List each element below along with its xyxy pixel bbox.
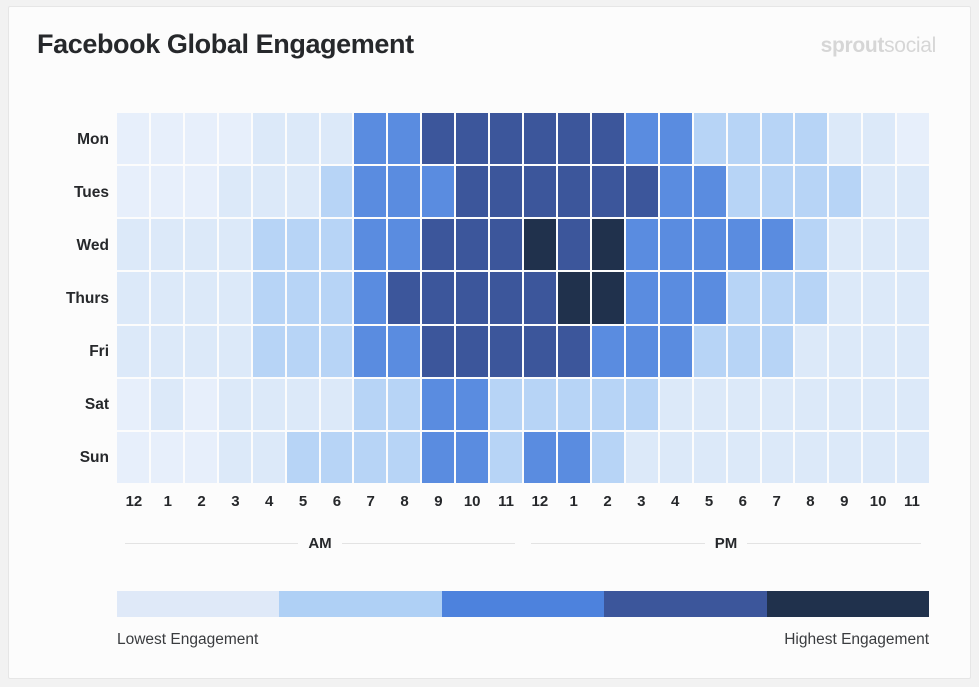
pm-label: PM [705,535,748,552]
hour-label: 8 [794,493,828,515]
heatmap-cell[interactable] [185,432,219,485]
heatmap-cell[interactable] [897,432,929,485]
day-label-sat: Sat [29,397,109,413]
heatmap-cell[interactable] [321,432,355,485]
heatmap-cell[interactable] [151,166,185,219]
heatmap-cell[interactable] [762,326,796,379]
hour-label: 10 [861,493,895,515]
heatmap-cell[interactable] [253,326,287,379]
heatmap-cell[interactable] [795,326,829,379]
hour-label: 11 [895,493,929,515]
heatmap-cell[interactable] [117,113,151,166]
legend-segment [767,591,929,617]
heatmap-cell[interactable] [219,272,253,325]
heatmap-cell[interactable] [490,272,524,325]
heatmap-cell[interactable] [185,219,219,272]
heatmap-cell[interactable] [592,432,626,485]
ampm-axis: AM PM [117,531,929,555]
day-label-wed: Wed [29,238,109,254]
heatmap-cell[interactable] [626,272,660,325]
heatmap-cell[interactable] [863,326,897,379]
day-label-tues: Tues [29,185,109,201]
logo-text-social: social [884,34,936,57]
heatmap-cell[interactable] [524,379,558,432]
heatmap-cell[interactable] [287,432,321,485]
heatmap-cell[interactable] [728,326,762,379]
heatmap-cell[interactable] [762,432,796,485]
heatmap-cell[interactable] [388,272,422,325]
heatmap-cell[interactable] [660,272,694,325]
heatmap-cell[interactable] [422,379,456,432]
heatmap-row [117,379,929,432]
heatmap-cell[interactable] [253,379,287,432]
heatmap-cell[interactable] [558,432,592,485]
heatmap-cell[interactable] [728,113,762,166]
legend-segment [117,591,279,617]
heatmap-grid [117,113,929,485]
heatmap-cell[interactable] [490,219,524,272]
heatmap-cell[interactable] [762,219,796,272]
heatmap-cell[interactable] [456,326,490,379]
heatmap-cell[interactable] [490,432,524,485]
day-label-fri: Fri [29,344,109,360]
heatmap-cell[interactable] [863,432,897,485]
pm-rule-left [531,543,705,544]
heatmap-cell[interactable] [660,379,694,432]
heatmap-cell[interactable] [388,113,422,166]
legend-lowest-label: Lowest Engagement [117,631,258,649]
heatmap-cell[interactable] [185,113,219,166]
heatmap-cell[interactable] [117,272,151,325]
heatmap-cell[interactable] [863,379,897,432]
heatmap-cell[interactable] [422,432,456,485]
hour-label: 9 [827,493,861,515]
heatmap-cell[interactable] [151,379,185,432]
day-label-mon: Mon [29,132,109,148]
heatmap-row [117,113,929,166]
hour-label: 12 [523,493,557,515]
heatmap-cell[interactable] [524,272,558,325]
hour-label: 7 [354,493,388,515]
heatmap-cell[interactable] [456,113,490,166]
heatmap-cell[interactable] [795,166,829,219]
heatmap-cell[interactable] [253,432,287,485]
logo-text-sprout: sprout [821,34,885,57]
heatmap-cell[interactable] [592,379,626,432]
heatmap-cell[interactable] [151,219,185,272]
heatmap-cell[interactable] [117,219,151,272]
heatmap-cell[interactable] [354,113,388,166]
hour-label: 3 [218,493,252,515]
heatmap-cell[interactable] [287,113,321,166]
hour-label: 4 [252,493,286,515]
heatmap-cell[interactable] [592,113,626,166]
hour-label: 1 [151,493,185,515]
page-title: Facebook Global Engagement [37,29,414,60]
heatmap-cell[interactable] [253,219,287,272]
heatmap-cell[interactable] [762,166,796,219]
heatmap-cell[interactable] [829,432,863,485]
heatmap-row [117,326,929,379]
heatmap-cell[interactable] [863,166,897,219]
heatmap-cell[interactable] [456,272,490,325]
heatmap-cell[interactable] [863,272,897,325]
heatmap-cell[interactable] [219,326,253,379]
legend-segment [279,591,441,617]
heatmap-cell[interactable] [151,326,185,379]
heatmap-cell[interactable] [626,379,660,432]
heatmap-cell[interactable] [253,272,287,325]
hour-label: 11 [489,493,523,515]
hour-label: 9 [421,493,455,515]
heatmap-cell[interactable] [422,326,456,379]
heatmap-cell[interactable] [626,113,660,166]
heatmap-cell[interactable] [321,113,355,166]
heatmap-cell[interactable] [660,432,694,485]
hour-label: 12 [117,493,151,515]
heatmap-cell[interactable] [897,113,929,166]
hour-label: 3 [624,493,658,515]
legend-segment [442,591,604,617]
heatmap-cell[interactable] [185,326,219,379]
heatmap-cell[interactable] [253,166,287,219]
heatmap-cell[interactable] [558,326,592,379]
heatmap-cell[interactable] [287,219,321,272]
heatmap-cell[interactable] [660,326,694,379]
heatmap-cell[interactable] [558,272,592,325]
heatmap-cell[interactable] [897,379,929,432]
heatmap-cell[interactable] [219,113,253,166]
heatmap-cell[interactable] [728,432,762,485]
heatmap-cell[interactable] [592,166,626,219]
heatmap-cell[interactable] [694,432,728,485]
heatmap-cell[interactable] [151,432,185,485]
heatmap-cell[interactable] [388,379,422,432]
heatmap-cell[interactable] [321,166,355,219]
heatmap-cell[interactable] [388,219,422,272]
day-label-sun: Sun [29,450,109,466]
heatmap-cell[interactable] [354,432,388,485]
heatmap-cell[interactable] [558,113,592,166]
hour-label: 6 [726,493,760,515]
hour-label: 6 [320,493,354,515]
day-label-thurs: Thurs [29,291,109,307]
heatmap-cell[interactable] [354,219,388,272]
heatmap-cell[interactable] [829,113,863,166]
heatmap-cell[interactable] [762,272,796,325]
heatmap-cell[interactable] [354,272,388,325]
heatmap-cell[interactable] [829,166,863,219]
heatmap-cell[interactable] [117,432,151,485]
hour-label: 1 [557,493,591,515]
heatmap-cell[interactable] [185,166,219,219]
hour-axis: 121234567891011121234567891011 [117,493,929,515]
legend-segment [604,591,766,617]
heatmap-cell[interactable] [219,219,253,272]
heatmap-cell[interactable] [524,432,558,485]
heatmap-cell[interactable] [728,166,762,219]
heatmap-cell[interactable] [524,219,558,272]
heatmap-cell[interactable] [456,166,490,219]
heatmap-cell[interactable] [321,272,355,325]
day-axis: MonTuesWedThursFriSatSun [29,113,109,485]
sprout-social-logo: sproutsocial [821,34,936,58]
heatmap-cell[interactable] [524,326,558,379]
heatmap-cell[interactable] [354,379,388,432]
heatmap-cell[interactable] [558,219,592,272]
heatmap-cell[interactable] [626,326,660,379]
heatmap-cell[interactable] [863,113,897,166]
heatmap-cell[interactable] [388,166,422,219]
chart-card: Facebook Global Engagement sproutsocial … [8,6,971,679]
hour-label: 5 [286,493,320,515]
heatmap-cell[interactable] [151,272,185,325]
hour-label: 7 [760,493,794,515]
heatmap-row [117,272,929,325]
heatmap-cell[interactable] [694,326,728,379]
screenshot-root: Facebook Global Engagement sproutsocial … [0,0,979,687]
heatmap-cell[interactable] [287,272,321,325]
pm-group: PM [523,531,929,555]
heatmap-cell[interactable] [694,272,728,325]
legend-gradient-bar [117,591,929,617]
heatmap-cell[interactable] [660,113,694,166]
legend-captions: Lowest Engagement Highest Engagement [117,631,929,649]
heatmap-cell[interactable] [728,219,762,272]
heatmap-row [117,219,929,272]
heatmap-cell[interactable] [829,379,863,432]
heatmap-cell[interactable] [490,113,524,166]
heatmap-cell[interactable] [388,432,422,485]
heatmap-cell[interactable] [829,272,863,325]
heatmap-cell[interactable] [660,219,694,272]
heatmap-cell[interactable] [287,326,321,379]
heatmap-cell[interactable] [422,166,456,219]
heatmap-cell[interactable] [592,326,626,379]
heatmap-cell[interactable] [321,379,355,432]
heatmap-cell[interactable] [558,166,592,219]
heatmap-cell[interactable] [795,113,829,166]
heatmap-cell[interactable] [422,219,456,272]
heatmap-cell[interactable] [897,326,929,379]
chart-header: Facebook Global Engagement sproutsocial [9,7,970,81]
heatmap-cell[interactable] [524,113,558,166]
heatmap-cell[interactable] [863,219,897,272]
heatmap-cell[interactable] [829,326,863,379]
heatmap-cell[interactable] [321,326,355,379]
heatmap-cell[interactable] [762,113,796,166]
heatmap-cell[interactable] [219,379,253,432]
am-rule-right [342,543,515,544]
heatmap-cell[interactable] [626,432,660,485]
hour-label: 4 [658,493,692,515]
hour-label: 10 [455,493,489,515]
legend-highest-label: Highest Engagement [784,631,929,649]
heatmap-cell[interactable] [897,219,929,272]
heatmap-cell[interactable] [287,379,321,432]
am-group: AM [117,531,523,555]
heatmap-cell[interactable] [897,272,929,325]
heatmap-cell[interactable] [321,219,355,272]
heatmap-cell[interactable] [524,166,558,219]
heatmap-cell[interactable] [388,326,422,379]
heatmap-cell[interactable] [219,166,253,219]
hour-label: 2 [185,493,219,515]
heatmap-cell[interactable] [422,113,456,166]
heatmap-cell[interactable] [762,379,796,432]
heatmap-row [117,432,929,485]
heatmap-cell[interactable] [422,272,456,325]
heatmap-cell[interactable] [558,379,592,432]
heatmap-cell[interactable] [897,166,929,219]
heatmap-cell[interactable] [795,379,829,432]
heatmap-cell[interactable] [694,113,728,166]
heatmap-cell[interactable] [219,432,253,485]
heatmap-cell[interactable] [117,166,151,219]
heatmap-cell[interactable] [354,326,388,379]
heatmap-cell[interactable] [694,379,728,432]
heatmap-cell[interactable] [728,272,762,325]
heatmap-cell[interactable] [456,432,490,485]
heatmap-cell[interactable] [117,326,151,379]
heatmap-cell[interactable] [728,379,762,432]
heatmap-cell[interactable] [626,219,660,272]
heatmap-cell[interactable] [795,272,829,325]
heatmap-cell[interactable] [694,219,728,272]
heatmap-cell[interactable] [660,166,694,219]
heatmap-cell[interactable] [592,272,626,325]
heatmap-cell[interactable] [253,113,287,166]
heatmap-cell[interactable] [490,379,524,432]
heatmap-cell[interactable] [287,166,321,219]
heatmap-cell[interactable] [626,166,660,219]
heatmap-cell[interactable] [694,166,728,219]
heatmap-cell[interactable] [354,166,388,219]
am-rule-left [125,543,298,544]
heatmap-cell[interactable] [151,113,185,166]
heatmap-cell[interactable] [456,219,490,272]
hour-label: 5 [692,493,726,515]
heatmap-row [117,166,929,219]
heatmap-cell[interactable] [795,432,829,485]
heatmap-cell[interactable] [490,326,524,379]
heatmap-cell[interactable] [456,379,490,432]
heatmap-cell[interactable] [185,272,219,325]
heatmap-cell[interactable] [829,219,863,272]
am-label: AM [298,535,341,552]
heatmap-cell[interactable] [592,219,626,272]
heatmap-cell[interactable] [795,219,829,272]
heatmap-cell[interactable] [117,379,151,432]
pm-rule-right [747,543,921,544]
heatmap-cell[interactable] [185,379,219,432]
hour-label: 8 [388,493,422,515]
hour-label: 2 [591,493,625,515]
heatmap-cell[interactable] [490,166,524,219]
